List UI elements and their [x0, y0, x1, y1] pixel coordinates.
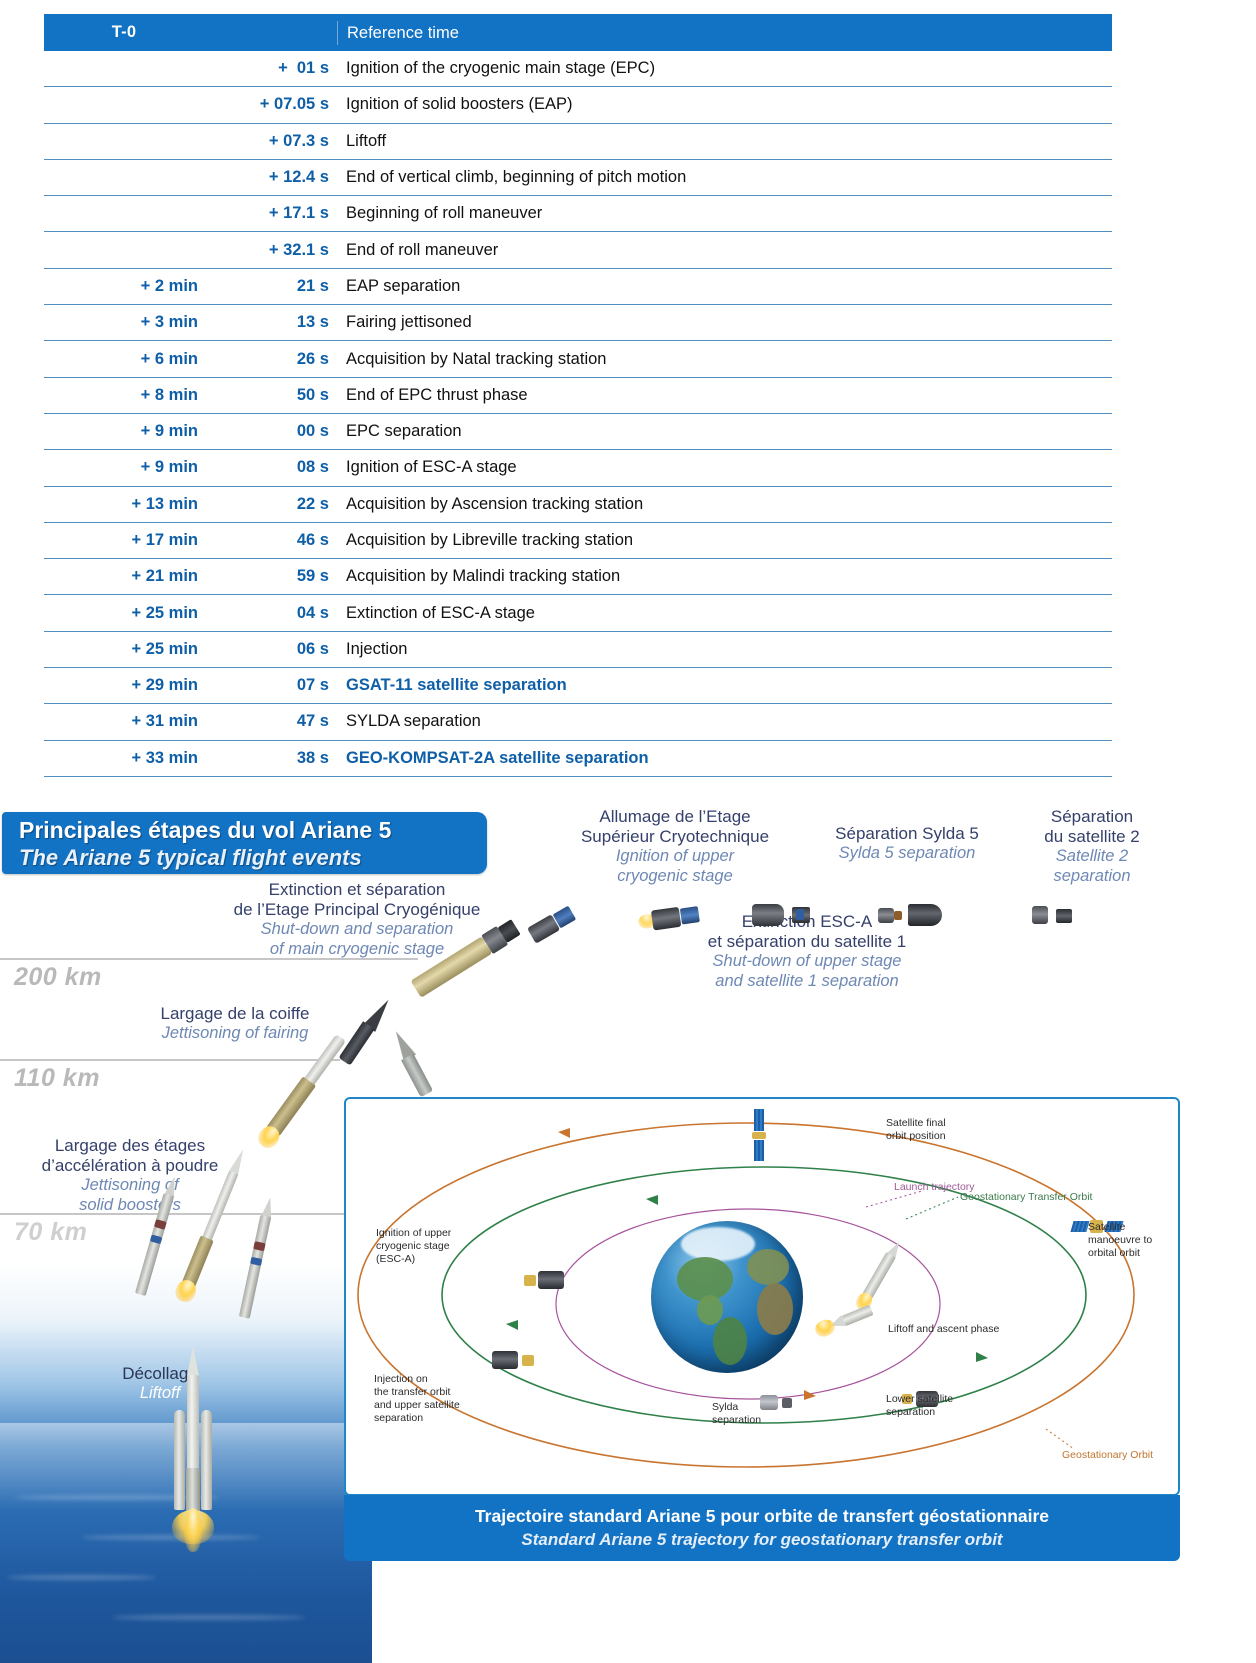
table-row: + 2 min21 sEAP separation	[44, 269, 1112, 305]
infographic-title-plate: Principales étapes du vol Ariane 5 The A…	[2, 812, 487, 874]
timeline-event-cell: Injection	[337, 640, 1112, 659]
orbit-label-liftoff-ascent: Liftoff and ascent phase	[888, 1323, 1048, 1336]
satellite-final-orbit-position	[752, 1109, 766, 1161]
flight-events-infographic: 200 km 110 km 70 km Principales étapes d…	[0, 806, 1256, 1663]
esc-a-ignition-sprite	[524, 1267, 578, 1295]
timeline-seconds-cell: 50 s	[204, 386, 337, 405]
orbit-direction-arrow	[506, 1320, 518, 1330]
timeline-event-cell: EAP separation	[337, 277, 1112, 296]
landmass-south-america	[713, 1317, 747, 1365]
timeline-event-cell: Acquisition by Malindi tracking station	[337, 567, 1112, 586]
fairing-half-lower	[383, 1026, 440, 1102]
timeline-event-cell: End of EPC thrust phase	[337, 386, 1112, 405]
wave-streak	[7, 1575, 156, 1580]
orbit-caption-fr: Trajectoire standard Ariane 5 pour orbit…	[344, 1506, 1180, 1527]
timeline-seconds-cell: 04 s	[204, 604, 337, 623]
table-row: + 29 min07 sGSAT-11 satellite separation	[44, 668, 1112, 704]
timeline-seconds-cell: + 17.1 s	[204, 204, 337, 223]
annotation-liftoff-fr: Décollage	[60, 1364, 260, 1384]
orbit-trajectory-panel: Satellite final orbit position Geostatio…	[344, 1097, 1180, 1496]
timeline-seconds-cell: 47 s	[204, 712, 337, 731]
orbit-caption-en: Standard Ariane 5 trajectory for geostat…	[344, 1530, 1180, 1550]
table-row: + 8 min50 sEnd of EPC thrust phase	[44, 378, 1112, 414]
timeline-seconds-cell: 07 s	[204, 676, 337, 695]
geo-leader-line	[1046, 1429, 1074, 1449]
timeline-event-cell: End of roll maneuver	[337, 241, 1112, 260]
timeline-event-cell: Ignition of the cryogenic main stage (EP…	[337, 59, 1112, 78]
orbit-direction-arrow	[646, 1195, 658, 1205]
annotation-liftoff: Décollage Liftoff	[60, 1364, 260, 1404]
altitude-label-110km: 110 km	[14, 1064, 100, 1093]
arctic-icecap	[681, 1227, 755, 1261]
table-row: + 17 min46 sAcquisition by Libreville tr…	[44, 523, 1112, 559]
table-row: + 33 min38 sGEO-KOMPSAT-2A satellite sep…	[44, 741, 1112, 777]
timeline-seconds-cell: 46 s	[204, 531, 337, 550]
table-row: + 12.4 sEnd of vertical climb, beginning…	[44, 160, 1112, 196]
timeline-minutes-cell: + 29 min	[44, 676, 204, 695]
table-row: + 3 min13 sFairing jettisoned	[44, 305, 1112, 341]
orbit-label-launch-trajectory: Launch trajectory	[894, 1181, 1014, 1194]
orbit-label-esc-ignition: Ignition of upper cryogenic stage (ESC-A…	[376, 1227, 502, 1266]
timeline-seconds-cell: 06 s	[204, 640, 337, 659]
table-row: + 21 min59 sAcquisition by Malindi track…	[44, 559, 1112, 595]
timeline-minutes-cell: + 33 min	[44, 749, 204, 768]
annotation-esc-ignition-fr: Allumage de l’Etage Supérieur Cryotechni…	[564, 807, 786, 847]
table-row: + 9 min00 sEPC separation	[44, 414, 1112, 450]
orbit-label-injection-separation: Injection on the transfer orbit and uppe…	[374, 1373, 504, 1426]
timeline-event-cell: GSAT-11 satellite separation	[337, 676, 1112, 695]
table-row: + 07.3 sLiftoff	[44, 124, 1112, 160]
timeline-event-cell: Ignition of ESC-A stage	[337, 458, 1112, 477]
table-row: + 13 min22 sAcquisition by Ascension tra…	[44, 487, 1112, 523]
timeline-minutes-cell: + 21 min	[44, 567, 204, 586]
timeline-seconds-cell: 21 s	[204, 277, 337, 296]
timeline-seconds-cell: 08 s	[204, 458, 337, 477]
timeline-event-cell: Ignition of solid boosters (EAP)	[337, 95, 1112, 114]
timeline-seconds-cell: 26 s	[204, 350, 337, 369]
orbit-direction-arrow	[804, 1390, 816, 1400]
timeline-minutes-cell: + 17 min	[44, 531, 204, 550]
infographic-title-fr: Principales étapes du vol Ariane 5	[19, 817, 391, 844]
table-row: + 31 min47 sSYLDA separation	[44, 704, 1112, 740]
timeline-event-cell: EPC separation	[337, 422, 1112, 441]
timeline-event-cell: Acquisition by Natal tracking station	[337, 350, 1112, 369]
annotation-satellite2-separation-en: Satellite 2 separation	[1012, 847, 1172, 886]
timeline-minutes-cell: + 8 min	[44, 386, 204, 405]
timeline-minutes-cell: + 6 min	[44, 350, 204, 369]
annotation-esc-ignition-en: Ignition of upper cryogenic stage	[564, 847, 786, 886]
annotation-sylda-separation-en: Sylda 5 separation	[812, 844, 1002, 863]
timeline-minutes-cell: + 9 min	[44, 458, 204, 477]
timeline-minutes-cell: + 25 min	[44, 604, 204, 623]
satellite2-separation-group	[1032, 900, 1088, 932]
orbit-direction-arrow	[558, 1128, 570, 1138]
timeline-seconds-cell: + 01 s	[204, 59, 337, 78]
timeline-event-cell: Acquisition by Ascension tracking statio…	[337, 495, 1112, 514]
timeline-event-cell: Acquisition by Libreville tracking stati…	[337, 531, 1112, 550]
table-row: + 9 min08 sIgnition of ESC-A stage	[44, 450, 1112, 486]
altitude-label-200km: 200 km	[14, 963, 102, 992]
timeline-header-row: T-0 Reference time	[44, 14, 1112, 51]
table-row: + 25 min06 sInjection	[44, 632, 1112, 668]
annotation-sylda-separation: Séparation Sylda 5 Sylda 5 separation	[812, 824, 1002, 864]
landmass-north-america	[677, 1257, 733, 1301]
timeline-seconds-cell: 13 s	[204, 313, 337, 332]
orbit-label-sylda-separation: Sylda separation	[712, 1401, 802, 1427]
timeline-minutes-cell: + 31 min	[44, 712, 204, 731]
timeline-event-cell: Extinction of ESC-A stage	[337, 604, 1112, 623]
timeline-seconds-cell: 38 s	[204, 749, 337, 768]
table-row: + 25 min04 sExtinction of ESC-A stage	[44, 595, 1112, 631]
timeline-event-cell: Fairing jettisoned	[337, 313, 1112, 332]
timeline-minutes-cell: + 2 min	[44, 277, 204, 296]
annotation-sylda-separation-fr: Séparation Sylda 5	[812, 824, 1002, 844]
launch-timeline-table: T-0 Reference time + 01 sIgnition of the…	[44, 14, 1112, 777]
earth-globe	[651, 1221, 803, 1373]
timeline-event-cell: Beginning of roll maneuver	[337, 204, 1112, 223]
timeline-event-cell: GEO-KOMPSAT-2A satellite separation	[337, 749, 1112, 768]
timeline-seconds-cell: 22 s	[204, 495, 337, 514]
orbit-label-geostationary-orbit: Geostationary Orbit	[1062, 1449, 1180, 1462]
timeline-minutes-cell: + 13 min	[44, 495, 204, 514]
timeline-seconds-cell: + 12.4 s	[204, 168, 337, 187]
injection-separation-sprite	[492, 1347, 544, 1375]
timeline-event-cell: SYLDA separation	[337, 712, 1112, 731]
timeline-seconds-cell: + 32.1 s	[204, 241, 337, 260]
table-row: + 07.05 sIgnition of solid boosters (EAP…	[44, 87, 1112, 123]
timeline-header-event: Reference time	[337, 21, 1112, 45]
table-row: + 17.1 sBeginning of roll maneuver	[44, 196, 1112, 232]
annotation-liftoff-en: Liftoff	[60, 1384, 260, 1403]
timeline-seconds-cell: 59 s	[204, 567, 337, 586]
wave-streak	[112, 1615, 305, 1620]
timeline-seconds-cell: 00 s	[204, 422, 337, 441]
orbit-label-satellite-final-position: Satellite final orbit position	[886, 1117, 996, 1143]
timeline-seconds-cell: + 07.05 s	[204, 95, 337, 114]
rocket-full-stack-liftoff	[170, 1346, 216, 1526]
landmass-africa	[757, 1283, 793, 1335]
infographic-title-en: The Ariane 5 typical flight events	[19, 845, 362, 871]
altitude-label-70km: 70 km	[14, 1218, 87, 1247]
gto-leader-line	[906, 1197, 958, 1219]
satellite1-separation-group	[752, 898, 824, 932]
annotation-epc-shutdown-fr: Extinction et séparation de l’Etage Prin…	[212, 880, 502, 920]
timeline-header-time: T-0	[44, 23, 204, 42]
timeline-event-cell: End of vertical climb, beginning of pitc…	[337, 168, 1112, 187]
annotation-esc-ignition: Allumage de l’Etage Supérieur Cryotechni…	[564, 807, 786, 886]
annotation-fairing-jettison-fr: Largage de la coiffe	[120, 1004, 350, 1024]
orbit-direction-arrow	[976, 1352, 988, 1362]
annotation-satellite2-separation-fr: Séparation du satellite 2	[1012, 807, 1172, 847]
landmass-europe-africa	[747, 1249, 789, 1285]
timeline-minutes-cell: + 25 min	[44, 640, 204, 659]
table-row: + 32.1 sEnd of roll maneuver	[44, 232, 1112, 268]
annotation-satellite2-separation: Séparation du satellite 2 Satellite 2 se…	[1012, 807, 1172, 886]
wave-streak	[82, 1535, 261, 1540]
table-row: + 01 sIgnition of the cryogenic main sta…	[44, 51, 1112, 87]
timeline-event-cell: Liftoff	[337, 132, 1112, 151]
timeline-minutes-cell: + 9 min	[44, 422, 204, 441]
timeline-minutes-cell: + 3 min	[44, 313, 204, 332]
orbit-label-satellite-manoeuvre: Satellite manoeuvre to orbital orbit	[1088, 1221, 1180, 1260]
timeline-body: + 01 sIgnition of the cryogenic main sta…	[44, 51, 1112, 777]
orbit-panel-caption: Trajectoire standard Ariane 5 pour orbit…	[344, 1495, 1180, 1561]
annotation-esc-shutdown-en: Shut-down of upper stage and satellite 1…	[672, 952, 942, 991]
sylda-separation-group	[878, 898, 954, 932]
timeline-seconds-cell: + 07.3 s	[204, 132, 337, 151]
orbit-label-lower-satellite-separation: Lower satellite separation	[886, 1393, 996, 1419]
table-row: + 6 min26 sAcquisition by Natal tracking…	[44, 341, 1112, 377]
